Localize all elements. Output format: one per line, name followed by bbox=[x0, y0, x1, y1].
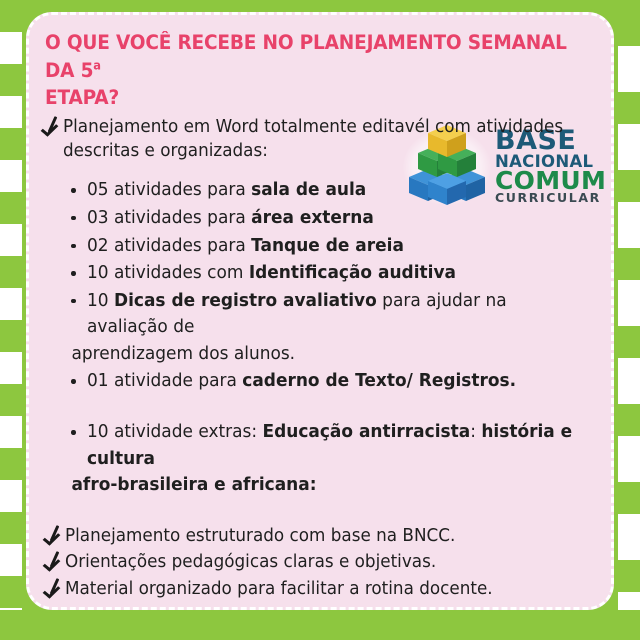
benefits-list: Planejamento estruturado com base na BNC… bbox=[43, 525, 595, 602]
item-text: 05 atividades para bbox=[87, 180, 251, 200]
item-highlight: sala de aula bbox=[251, 180, 366, 200]
item-highlight: Tanque de areia bbox=[251, 236, 404, 256]
check-icon bbox=[45, 578, 64, 599]
intro-check-line: Planejamento em Word totalmente editavél… bbox=[43, 116, 595, 163]
item-highlight: Educação antirracista bbox=[263, 422, 471, 442]
list-item: 10 Dicas de registro avaliativo para aju… bbox=[71, 288, 595, 368]
check-icon bbox=[45, 551, 64, 572]
item-second-line: aprendizagem dos alunos. bbox=[71, 341, 579, 368]
list-item: 01 atividade para caderno de Texto/ Regi… bbox=[71, 368, 595, 395]
item-text: 03 atividades para bbox=[87, 208, 251, 228]
check-icon bbox=[45, 525, 64, 546]
item-highlight: área externa bbox=[251, 208, 374, 228]
list-item: 10 atividades com Identificação auditiva bbox=[71, 260, 595, 287]
check-icon bbox=[43, 116, 62, 137]
item-text: 02 atividades para bbox=[87, 236, 251, 256]
item-text: 01 atividade para bbox=[87, 371, 242, 391]
item-second-line: afro-brasileira e africana: bbox=[71, 472, 579, 499]
list-item: 02 atividades para Tanque de areia bbox=[71, 233, 595, 260]
item-tail: : bbox=[470, 422, 481, 442]
benefit-row: Orientações pedagógicas claras e objetiv… bbox=[45, 551, 595, 575]
benefit-text: Material organizado para facilitar a rot… bbox=[65, 578, 493, 602]
page-title: O QUE VOCÊ RECEBE NO PLANEJAMENTO SEMANA… bbox=[45, 29, 568, 112]
benefit-row: Planejamento estruturado com base na BNC… bbox=[45, 525, 595, 549]
page-title-line1: O QUE VOCÊ RECEBE NO PLANEJAMENTO SEMANA… bbox=[45, 31, 567, 82]
item-highlight: Identificação auditiva bbox=[249, 263, 456, 283]
bottom-green-band bbox=[0, 610, 640, 640]
item-text: 10 bbox=[87, 291, 114, 311]
item-text: 10 atividade extras: bbox=[87, 422, 263, 442]
list-item: 10 atividade extras: Educação antirracis… bbox=[71, 419, 595, 499]
benefit-text: Planejamento estruturado com base na BNC… bbox=[65, 525, 455, 549]
item-highlight: caderno de Texto/ Registros. bbox=[242, 371, 516, 391]
card-inner: O QUE VOCÊ RECEBE NO PLANEJAMENTO SEMANA… bbox=[29, 15, 611, 607]
item-text: 10 atividades com bbox=[87, 263, 249, 283]
item-highlight: Dicas de registro avaliativo bbox=[114, 291, 377, 311]
logo-line-comum: COMUM bbox=[495, 169, 606, 192]
logo-line-curricular: CURRICULAR bbox=[495, 192, 606, 204]
page-title-ordinal: a bbox=[93, 58, 101, 72]
intro-text: Planejamento em Word totalmente editavél… bbox=[63, 116, 574, 163]
page-title-line2: ETAPA? bbox=[45, 86, 119, 109]
left-checkered-border bbox=[0, 0, 22, 640]
content-card: O QUE VOCÊ RECEBE NO PLANEJAMENTO SEMANA… bbox=[26, 12, 614, 610]
right-checkered-border bbox=[618, 0, 640, 640]
benefit-text: Orientações pedagógicas claras e objetiv… bbox=[65, 551, 436, 575]
deliverables-list: 05 atividades para sala de aula 03 ativi… bbox=[43, 177, 595, 499]
benefit-row: Material organizado para facilitar a rot… bbox=[45, 578, 595, 602]
